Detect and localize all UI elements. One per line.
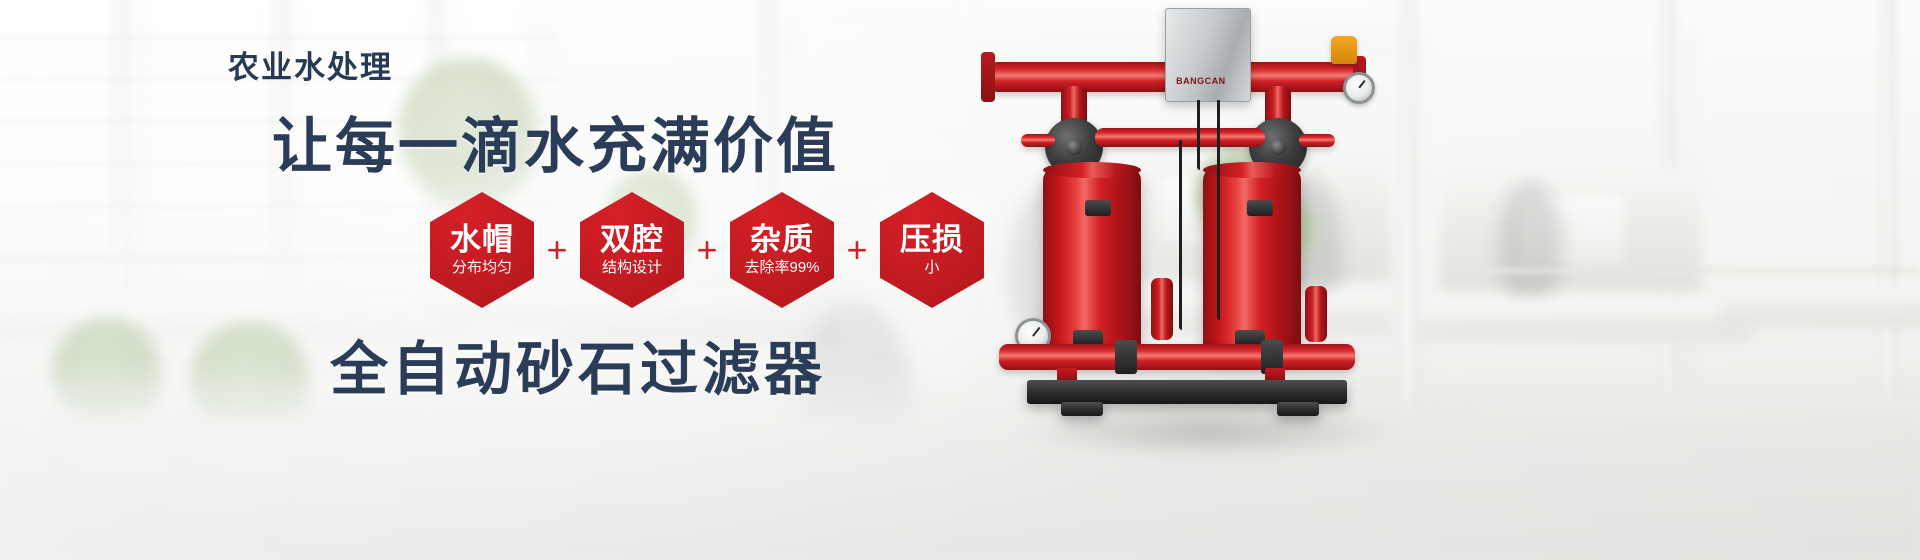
feature-badge-1-title: 水帽 (450, 224, 514, 257)
product-controller-box: BANGCAN (1165, 8, 1251, 102)
feature-badge-4-caption: 小 (924, 260, 939, 277)
product-pressure-gauge-top (1343, 72, 1375, 104)
feature-badge-1: 水帽 分布均匀 (430, 192, 534, 308)
product-inlet-flange (981, 52, 995, 102)
feature-badge-3-title: 杂质 (750, 224, 814, 257)
banner-subheadline: 全自动砂石过滤器 (330, 322, 826, 406)
feature-badge-3-caption: 去除率99% (744, 260, 819, 277)
plus-separator-2: + (684, 232, 730, 268)
feature-badge-2: 双腔 结构设计 (580, 192, 684, 308)
feature-badge-4-title: 压损 (900, 224, 964, 257)
banner-headline: 让每一滴水充满价值 (272, 98, 839, 185)
product-skid-base (1027, 380, 1347, 404)
feature-badge-2-caption: 结构设计 (602, 260, 662, 277)
feature-badge-2-title: 双腔 (600, 224, 664, 257)
feature-badge-3: 杂质 去除率99% (730, 192, 834, 308)
product-image-sand-filter: BANGCAN (965, 0, 1465, 560)
plus-separator-3: + (834, 232, 880, 268)
plus-separator-1: + (534, 232, 580, 268)
banner-eyebrow: 农业水处理 (228, 42, 393, 87)
product-air-release-valve (1331, 36, 1357, 64)
product-bottom-manifold (999, 344, 1355, 370)
feature-badge-1-caption: 分布均匀 (452, 260, 512, 277)
product-wiring-harness (1197, 100, 1200, 170)
banner-copy-block: 农业水处理 让每一滴水充满价值 全自动砂石过滤器 水帽 分布均匀 + 双腔 结构… (0, 0, 1040, 560)
controller-brand-label: BANGCAN (1176, 76, 1226, 86)
promo-banner: 农业水处理 让每一滴水充满价值 全自动砂石过滤器 水帽 分布均匀 + 双腔 结构… (0, 0, 1920, 560)
feature-badge-row: 水帽 分布均匀 + 双腔 结构设计 + 杂质 去除率99% + 压损 小 (430, 192, 984, 308)
